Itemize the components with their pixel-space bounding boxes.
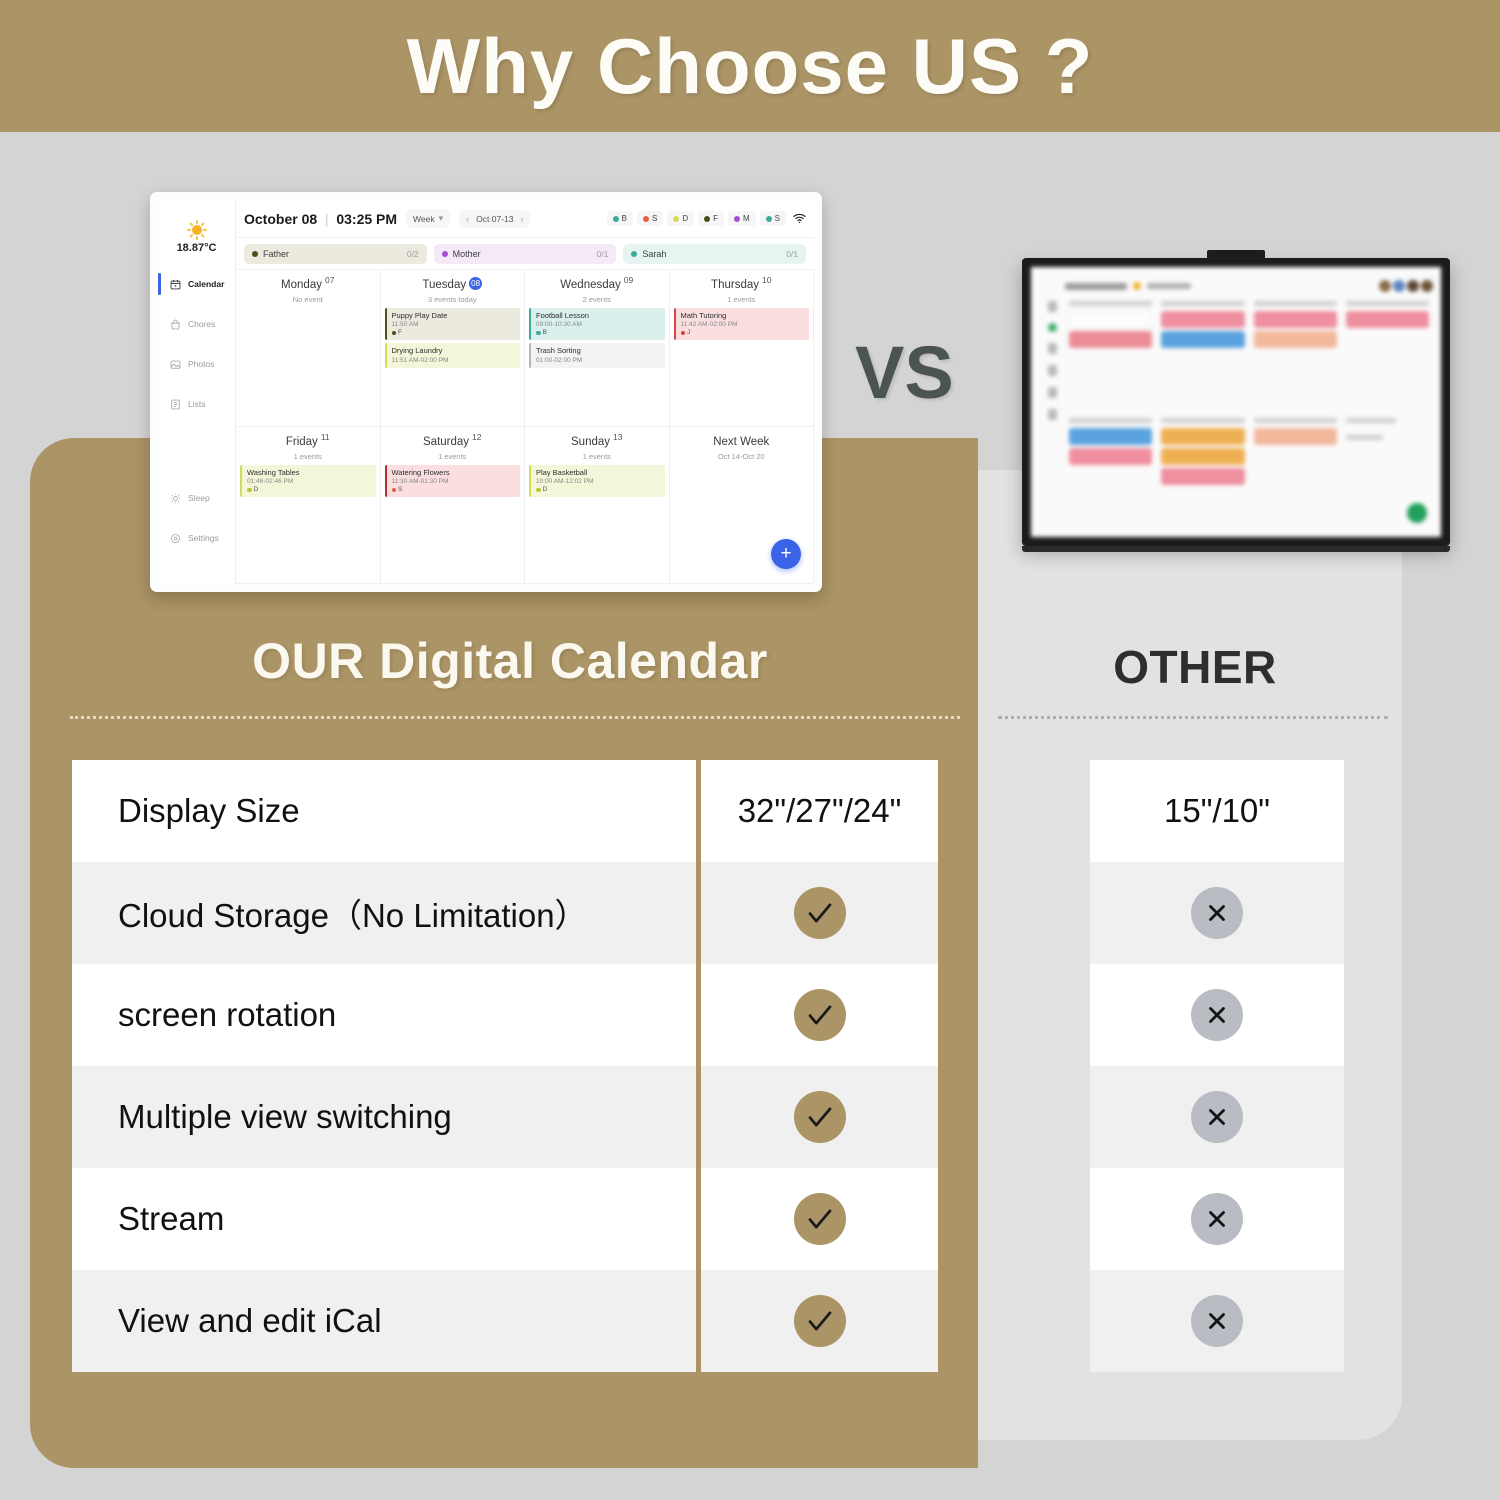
event-time: 10:00 AM-12:02 PM xyxy=(536,478,661,485)
check-icon xyxy=(794,1091,846,1143)
sidebar-item-label: Chores xyxy=(188,319,215,329)
member-filter-chips: B S D F M S xyxy=(607,211,806,226)
event-title: Watering Flowers xyxy=(392,468,517,477)
divider-right xyxy=(998,716,1388,719)
chevron-down-icon: ▾ xyxy=(439,213,444,224)
event-title: Washing Tables xyxy=(247,468,372,477)
our-section-title: OUR Digital Calendar xyxy=(60,632,960,690)
day-header: Monday07 xyxy=(240,275,376,293)
event-owner-label: D xyxy=(254,486,259,493)
member-chip-label: D xyxy=(682,214,688,223)
day-event-count: 1 events xyxy=(385,452,521,461)
member-chip-label: F xyxy=(713,214,718,223)
table-row xyxy=(701,862,938,964)
other-sidebar-icon xyxy=(1048,387,1057,398)
member-chip[interactable]: B xyxy=(607,211,633,226)
day-name: Saturday xyxy=(423,436,469,448)
cross-icon xyxy=(1191,1295,1243,1347)
member-chip-label: M xyxy=(743,214,750,223)
day-header: Next Week xyxy=(674,432,810,450)
table-row xyxy=(1090,1270,1344,1372)
our-device-tablet: 18.87°C Calendar Chores xyxy=(150,192,822,592)
other-sidebar-icon-active xyxy=(1048,323,1057,332)
day-event-count: No event xyxy=(240,295,376,304)
day-header: Wednesday09 xyxy=(529,275,665,293)
day-cell-wednesday[interactable]: Wednesday09 2 events Football Lesson 09:… xyxy=(525,270,670,427)
sidebar-item-lists[interactable]: Lists xyxy=(158,384,235,424)
event-time: 09:00-10:30 AM xyxy=(536,321,661,328)
cross-icon xyxy=(1191,887,1243,939)
feature-label: Display Size xyxy=(118,792,300,830)
other-label-placeholder xyxy=(1147,283,1191,289)
other-device-screen xyxy=(1031,267,1441,537)
member-count: 0/1 xyxy=(597,249,609,259)
day-event-count: 2 events xyxy=(529,295,665,304)
day-name: Monday xyxy=(281,279,322,291)
add-event-button[interactable]: + xyxy=(771,539,801,569)
page-banner: Why Choose US ? xyxy=(0,0,1500,132)
day-name: Friday xyxy=(286,436,318,448)
day-name: Thursday xyxy=(711,279,759,291)
event-owner-label: J xyxy=(687,329,690,336)
sidebar-item-chores[interactable]: Chores xyxy=(158,304,235,344)
check-icon xyxy=(794,989,846,1041)
member-card-mother[interactable]: Mother 0/1 xyxy=(434,244,617,264)
current-time: 03:25 PM xyxy=(336,211,397,227)
table-row xyxy=(701,1270,938,1372)
day-header: Tuesday08 xyxy=(385,275,521,293)
date-range-nav[interactable]: ‹ Oct 07-13 › xyxy=(459,210,530,228)
next-week-label: Next Week xyxy=(713,436,769,448)
member-chip[interactable]: F xyxy=(698,211,724,226)
day-number: 12 xyxy=(472,432,481,442)
table-row xyxy=(1090,1168,1344,1270)
event-card[interactable]: Math Tutoring 11:42 AM-02:00 PM J xyxy=(674,308,810,340)
day-event-count: 3 events today xyxy=(385,295,521,304)
monitor-stand xyxy=(1022,546,1450,552)
member-chip[interactable]: M xyxy=(728,211,756,226)
event-title: Football Lesson xyxy=(536,311,661,320)
other-day-cell xyxy=(1250,297,1341,413)
member-card-father[interactable]: Father 0/2 xyxy=(244,244,427,264)
sidebar-items-top: Calendar Chores Photos xyxy=(158,264,235,424)
view-select-label: Week xyxy=(413,214,435,224)
table-row xyxy=(1090,1066,1344,1168)
day-header: Thursday10 xyxy=(674,275,810,293)
day-cell-monday[interactable]: Monday07 No event xyxy=(236,270,381,427)
member-name: Sarah xyxy=(642,249,666,259)
week-grid: Monday07 No event Tuesday08 3 events tod… xyxy=(236,269,814,584)
other-week-grid xyxy=(1065,297,1433,529)
current-date: October 08 xyxy=(244,211,317,227)
other-sidebar-icon xyxy=(1048,409,1057,420)
member-chip[interactable]: S xyxy=(637,211,663,226)
current-datetime: October 08 | 03:25 PM xyxy=(244,211,397,227)
comparison-table-ours: Display Size Cloud Storage（No Limitation… xyxy=(72,760,950,1372)
table-row xyxy=(1090,964,1344,1066)
comparison-table-other: 15"/10" xyxy=(1090,760,1344,1372)
event-time: 01:46-02:46 PM xyxy=(247,478,372,485)
member-card-sarah[interactable]: Sarah 0/1 xyxy=(623,244,806,264)
day-number: 11 xyxy=(321,432,330,442)
sidebar-item-label: Sleep xyxy=(188,493,210,503)
sidebar-item-label: Settings xyxy=(188,533,219,543)
event-title: Trash Sorting xyxy=(536,346,661,355)
day-event-count: 1 events xyxy=(529,452,665,461)
app-sidebar: 18.87°C Calendar Chores xyxy=(158,200,236,584)
event-card[interactable]: Watering Flowers 11:30 AM-01:30 PM S xyxy=(385,465,521,497)
date-range-label: Oct 07-13 xyxy=(476,214,513,224)
other-day-cell xyxy=(1250,414,1341,530)
other-add-button xyxy=(1407,503,1427,523)
other-day-cell xyxy=(1065,297,1156,413)
other-sidebar-icon xyxy=(1048,301,1057,312)
event-owner-label: D xyxy=(543,486,548,493)
other-section-title: OTHER xyxy=(1000,640,1390,694)
day-cell-tuesday[interactable]: Tuesday08 3 events today Puppy Play Date… xyxy=(381,270,526,427)
table-row xyxy=(701,964,938,1066)
temperature-label: 18.87°C xyxy=(177,242,217,254)
sidebar-item-settings[interactable]: Settings xyxy=(158,518,235,558)
check-icon xyxy=(794,1193,846,1245)
event-card[interactable]: Puppy Play Date 11:50 AM F xyxy=(385,308,521,340)
event-card[interactable]: Drying Laundry 11:51 AM-02:00 PM xyxy=(385,343,521,367)
event-title: Drying Laundry xyxy=(392,346,517,355)
check-icon xyxy=(794,887,846,939)
view-select[interactable]: Week ▾ xyxy=(406,209,450,228)
feature-label: Multiple view switching xyxy=(118,1098,452,1136)
day-cell-saturday[interactable]: Saturday12 1 events Watering Flowers 11:… xyxy=(381,427,526,584)
sidebar-items-bottom: Sleep Settings xyxy=(158,478,235,558)
day-number-today: 08 xyxy=(469,277,482,290)
day-name: Wednesday xyxy=(560,279,621,291)
app-toolbar: October 08 | 03:25 PM Week ▾ ‹ Oct 07-13… xyxy=(236,200,814,238)
event-time: 11:30 AM-01:30 PM xyxy=(392,478,517,485)
other-title-placeholder xyxy=(1065,283,1127,290)
feature-column: Display Size Cloud Storage（No Limitation… xyxy=(72,760,696,1372)
event-owner: J xyxy=(681,329,806,336)
day-number: 10 xyxy=(762,275,771,285)
day-event-count: 1 events xyxy=(240,452,376,461)
other-device-monitor xyxy=(1022,258,1450,546)
event-owner-label: S xyxy=(398,486,402,493)
other-value: 15"/10" xyxy=(1164,792,1270,830)
day-event-count: 1 events xyxy=(674,295,810,304)
feature-label: Cloud Storage（No Limitation） xyxy=(118,889,588,937)
other-day-cell xyxy=(1157,414,1248,530)
sidebar-item-label: Lists xyxy=(188,399,205,409)
member-count: 0/2 xyxy=(407,249,419,259)
day-header: Sunday13 xyxy=(529,432,665,450)
event-owner: B xyxy=(536,329,661,336)
sun-icon xyxy=(187,220,207,240)
table-row xyxy=(701,1168,938,1270)
check-icon xyxy=(794,1295,846,1347)
member-summary-row: Father 0/2 Mother 0/1 Sarah 0/1 xyxy=(236,238,814,269)
other-toolbar xyxy=(1065,275,1433,297)
photos-icon xyxy=(170,359,181,370)
table-row: Multiple view switching xyxy=(72,1066,696,1168)
page-title: Why Choose US ? xyxy=(407,21,1094,112)
event-card[interactable]: Football Lesson 09:00-10:30 AM B xyxy=(529,308,665,340)
table-row: Stream xyxy=(72,1168,696,1270)
wifi-icon xyxy=(793,213,806,224)
day-header: Saturday12 xyxy=(385,432,521,450)
member-name: Mother xyxy=(453,249,481,259)
ours-value: 32"/27"/24" xyxy=(738,792,902,830)
member-chip-label: B xyxy=(622,214,627,223)
cross-icon xyxy=(1191,1193,1243,1245)
tablet-screen: 18.87°C Calendar Chores xyxy=(158,200,814,584)
event-card[interactable]: Trash Sorting 01:00-02:00 PM xyxy=(529,343,665,367)
event-time: 01:00-02:00 PM xyxy=(536,357,661,364)
vs-label: VS xyxy=(855,330,954,415)
divider-left xyxy=(70,716,960,719)
other-status-dot xyxy=(1133,282,1141,290)
event-owner: S xyxy=(392,486,517,493)
other-day-cell xyxy=(1342,297,1433,413)
other-day-cell xyxy=(1157,297,1248,413)
sidebar-item-photos[interactable]: Photos xyxy=(158,344,235,384)
day-cell-friday[interactable]: Friday11 1 events Washing Tables 01:46-0… xyxy=(236,427,381,584)
chevron-right-icon[interactable]: › xyxy=(520,214,523,224)
day-header: Friday11 xyxy=(240,432,376,450)
event-time: 11:50 AM xyxy=(392,321,517,328)
day-cell-sunday[interactable]: Sunday13 1 events Play Basketball 10:00 … xyxy=(525,427,670,584)
event-owner: F xyxy=(392,329,517,336)
lists-icon xyxy=(170,399,181,410)
event-time: 11:51 AM-02:00 PM xyxy=(392,357,517,364)
day-cell-thursday[interactable]: Thursday10 1 events Math Tutoring 11:42 … xyxy=(670,270,815,427)
event-title: Math Tutoring xyxy=(681,311,806,320)
day-cell-next-week[interactable]: Next Week Oct 14-Oct 20 + xyxy=(670,427,815,584)
event-owner: D xyxy=(536,486,661,493)
table-row: Display Size xyxy=(72,760,696,862)
other-sidebar-icon xyxy=(1048,365,1057,376)
event-time: 11:42 AM-02:00 PM xyxy=(681,321,806,328)
chevron-left-icon[interactable]: ‹ xyxy=(466,214,469,224)
event-card[interactable]: Play Basketball 10:00 AM-12:02 PM D xyxy=(529,465,665,497)
event-owner-label: F xyxy=(398,329,402,336)
other-sidebar xyxy=(1039,275,1065,529)
member-chip-label: S xyxy=(652,214,657,223)
other-avatars xyxy=(1379,280,1433,292)
member-chip[interactable]: S xyxy=(760,211,786,226)
feature-label: Stream xyxy=(118,1200,224,1238)
table-row: View and edit iCal xyxy=(72,1270,696,1372)
other-main xyxy=(1065,275,1433,529)
table-row: 15"/10" xyxy=(1090,760,1344,862)
feature-label: View and edit iCal xyxy=(118,1302,382,1340)
day-number: 09 xyxy=(624,275,633,285)
table-row xyxy=(1090,862,1344,964)
sidebar-spacer xyxy=(158,424,235,478)
app-main: October 08 | 03:25 PM Week ▾ ‹ Oct 07-13… xyxy=(236,200,814,584)
other-day-cell-next xyxy=(1342,414,1433,530)
table-row: 32"/27"/24" xyxy=(701,760,938,862)
sleep-icon xyxy=(170,493,181,504)
ours-value-column: 32"/27"/24" xyxy=(696,760,938,1372)
day-name: Tuesday xyxy=(422,279,466,291)
day-number: 13 xyxy=(613,432,622,442)
settings-icon xyxy=(170,533,181,544)
member-count: 0/1 xyxy=(786,249,798,259)
feature-label: screen rotation xyxy=(118,996,336,1034)
event-title: Play Basketball xyxy=(536,468,661,477)
other-sidebar-icon xyxy=(1048,343,1057,354)
sidebar-item-sleep[interactable]: Sleep xyxy=(158,478,235,518)
calendar-icon xyxy=(170,279,181,290)
table-row: screen rotation xyxy=(72,964,696,1066)
member-name: Father xyxy=(263,249,289,259)
sidebar-item-label: Calendar xyxy=(188,279,224,289)
day-name: Sunday xyxy=(571,436,610,448)
next-week-range: Oct 14-Oct 20 xyxy=(674,452,810,461)
event-owner: D xyxy=(247,486,372,493)
event-owner-label: B xyxy=(543,329,547,336)
chores-icon xyxy=(170,319,181,330)
member-chip[interactable]: D xyxy=(667,211,694,226)
day-number: 07 xyxy=(325,275,334,285)
other-day-cell xyxy=(1065,414,1156,530)
sidebar-item-calendar[interactable]: Calendar xyxy=(158,264,235,304)
sidebar-item-label: Photos xyxy=(188,359,214,369)
cross-icon xyxy=(1191,1091,1243,1143)
cross-icon xyxy=(1191,989,1243,1041)
event-title: Puppy Play Date xyxy=(392,311,517,320)
table-row: Cloud Storage（No Limitation） xyxy=(72,862,696,964)
weather-widget: 18.87°C xyxy=(158,210,235,264)
table-row xyxy=(701,1066,938,1168)
event-card[interactable]: Washing Tables 01:46-02:46 PM D xyxy=(240,465,376,497)
member-chip-label: S xyxy=(775,214,780,223)
